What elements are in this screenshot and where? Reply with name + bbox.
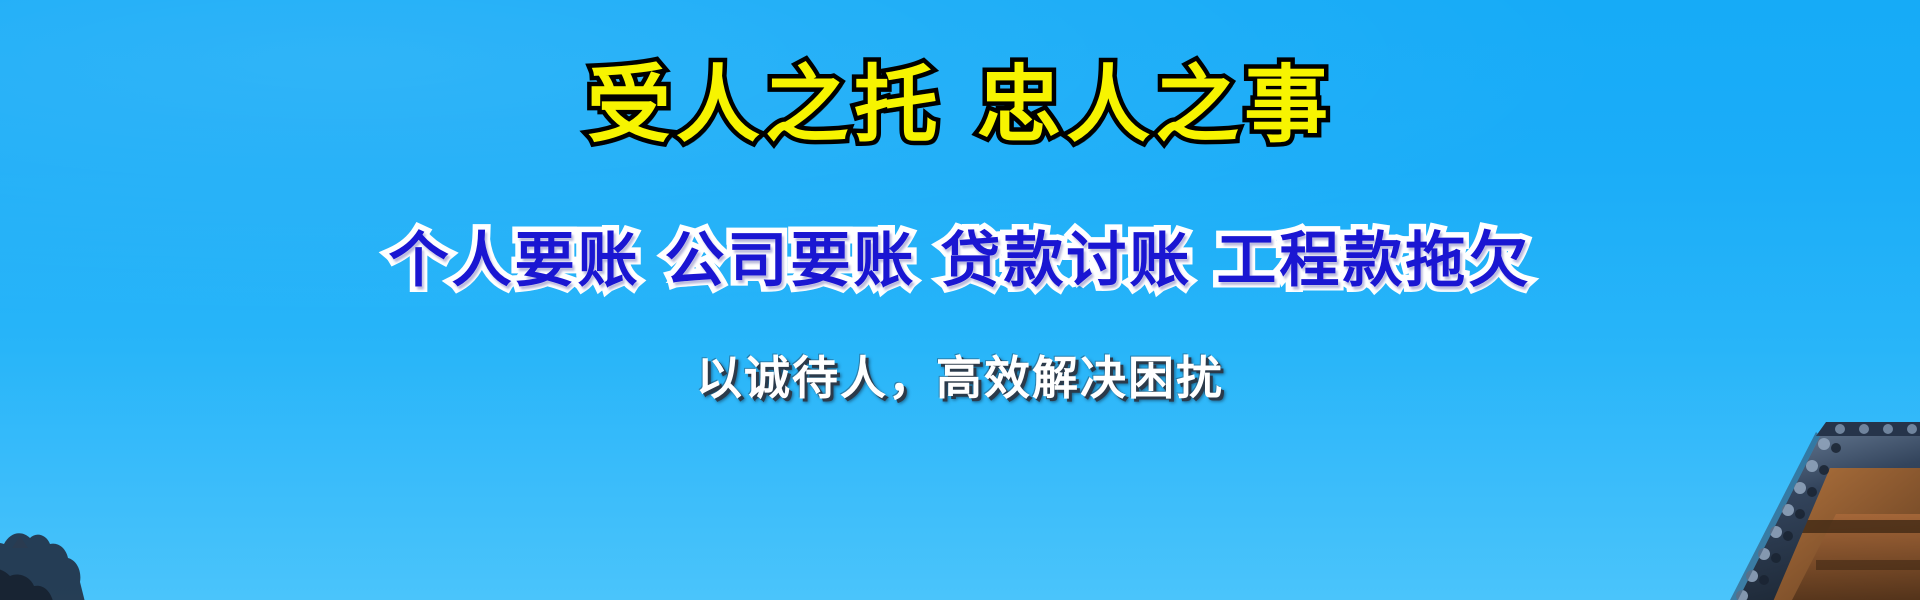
tagline: 以诚待人，高效解决困扰: [0, 352, 1920, 405]
promo-banner: 受人之托 忠人之事 个人要账 公司要账 贷款讨账 工程款拖欠 以诚待人，高效解决…: [0, 0, 1920, 600]
services-line: 个人要账 公司要账 贷款讨账 工程款拖欠: [0, 228, 1920, 294]
foliage-silhouette: [0, 486, 142, 600]
headline-motto: 受人之托 忠人之事: [0, 58, 1920, 152]
